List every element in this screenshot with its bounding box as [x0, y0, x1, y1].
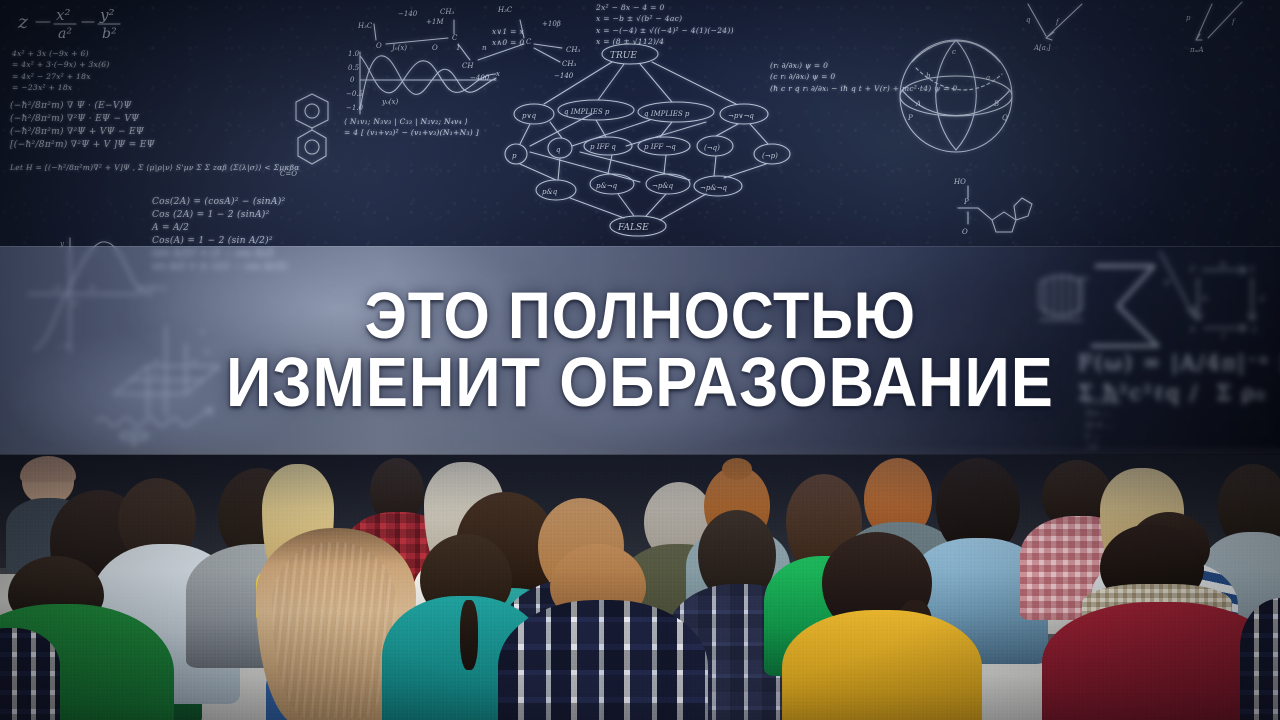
thumbnail-stage: z x² a² y² b² 4x² + 3x (−9x + 6) = 4x² +… — [0, 0, 1280, 720]
audience-photo — [0, 448, 1280, 720]
hair — [370, 458, 424, 520]
title-block: ЭТО ПОЛНОСТЬЮ ИЗМЕНИТ ОБРАЗОВАНИЕ — [0, 250, 1280, 450]
title-line-2: ИЗМЕНИТ ОБРАЗОВАНИЕ — [226, 349, 1054, 416]
hair-highlight — [272, 542, 396, 718]
torso — [498, 600, 708, 720]
braid — [460, 600, 478, 670]
hair-bun — [722, 458, 752, 480]
hair — [936, 458, 1020, 550]
torso — [782, 610, 982, 720]
title-line-1: ЭТО ПОЛНОСТЬЮ — [364, 284, 915, 347]
